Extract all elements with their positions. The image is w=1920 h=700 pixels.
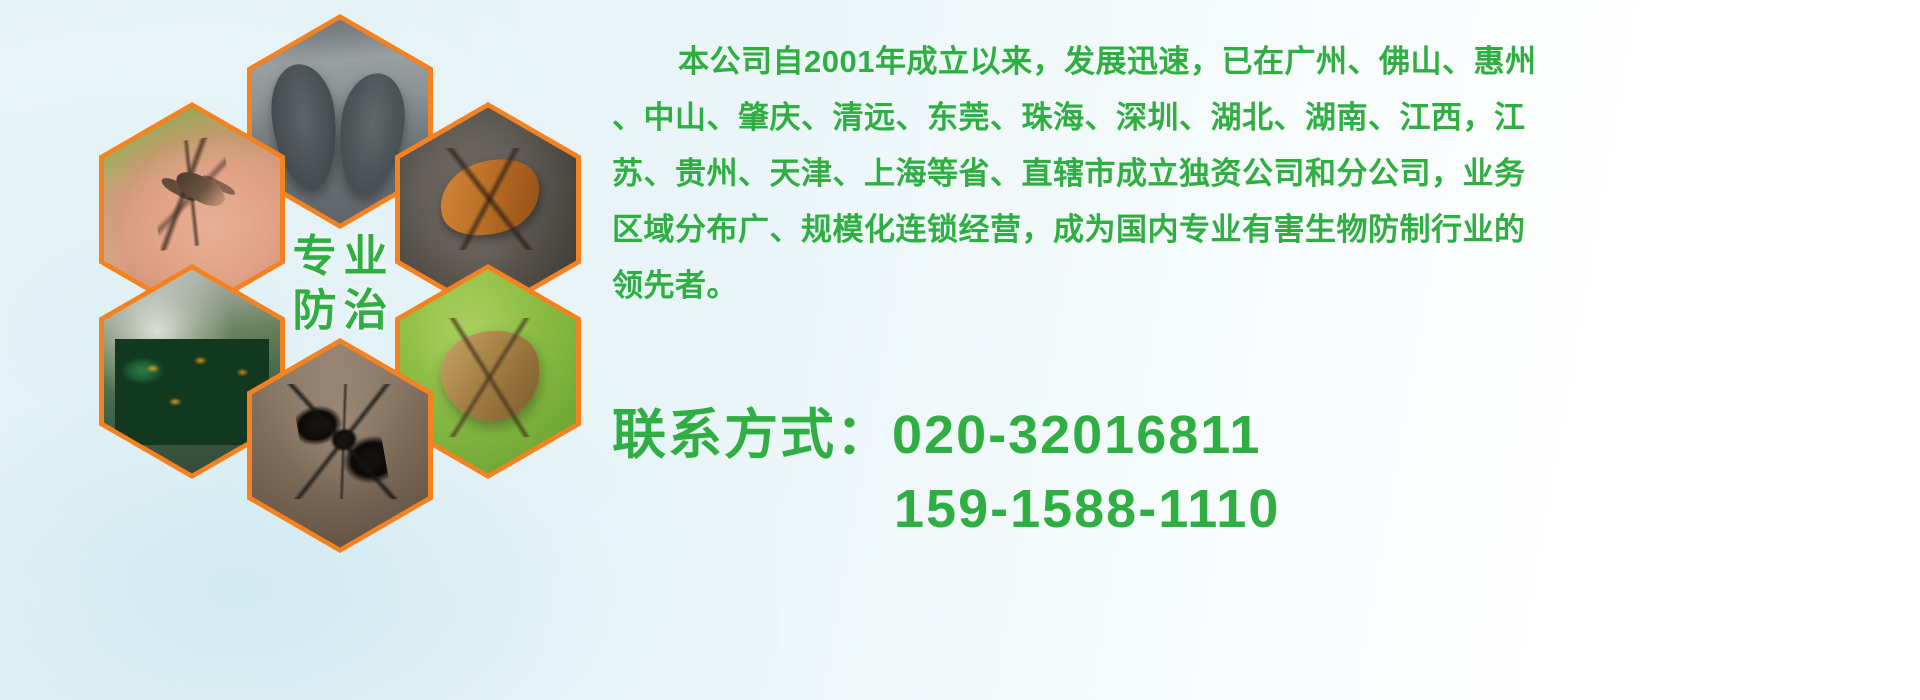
contact-phone-secondary[interactable]: 159-1588-1110 <box>612 472 1912 546</box>
contact-phone-primary[interactable]: 020-32016811 <box>892 405 1261 465</box>
intro-line-2: 、中山、肇庆、清远、东莞、珠海、深圳、湖北、湖南、江西，江 <box>612 90 1912 146</box>
promo-banner: 专业 防治 本公司自2001年成立以来，发展迅速，已在广州、佛山、惠州 、中山、… <box>0 0 1920 700</box>
center-label-line-2: 防治 <box>286 284 395 338</box>
contact-block: 联系方式：020-32016811 159-1588-1110 <box>612 398 1912 546</box>
ant-photo-icon <box>252 344 428 548</box>
intro-line-4: 区域分布广、规模化连锁经营，成为国内专业有害生物防制行业的 <box>612 202 1912 258</box>
hex-image-ant <box>252 344 428 548</box>
contact-primary-line: 联系方式：020-32016811 <box>612 398 1912 472</box>
contact-label: 联系方式： <box>612 405 892 465</box>
center-label-line-1: 专业 <box>286 230 395 284</box>
honeycomb-cluster: 专业 防治 <box>88 8 608 568</box>
intro-line-3: 苏、贵州、天津、上海等省、直辖市成立独资公司和分公司，业务 <box>612 146 1912 202</box>
intro-line-1-text: 本公司自2001年成立以来，发展迅速，已在广州、佛山、惠州 <box>678 44 1536 79</box>
company-intro-paragraph: 本公司自2001年成立以来，发展迅速，已在广州、佛山、惠州 、中山、肇庆、清远、… <box>612 34 1912 314</box>
intro-line-5: 领先者。 <box>612 258 1912 314</box>
intro-line-1: 本公司自2001年成立以来，发展迅速，已在广州、佛山、惠州 <box>612 34 1912 90</box>
